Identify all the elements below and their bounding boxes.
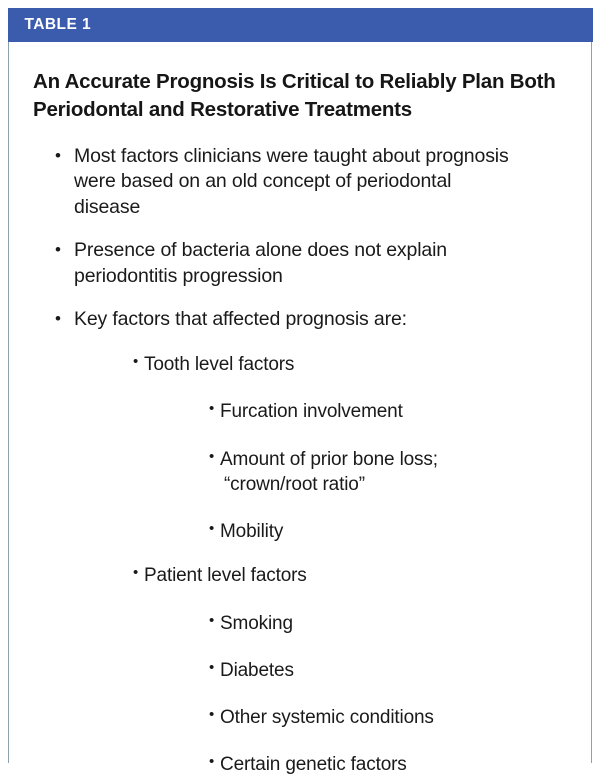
list-item-label: Presence of bacteria alone does not expl… <box>74 238 514 290</box>
bullet-icon: • <box>55 144 74 222</box>
bullet-icon: • <box>209 705 220 730</box>
bullet-icon: • <box>209 519 220 544</box>
table-title: An Accurate Prognosis Is Critical to Rel… <box>33 68 563 125</box>
table-body: An Accurate Prognosis Is Critical to Rel… <box>9 68 591 778</box>
list-item: •Certain genetic factors <box>33 752 577 777</box>
list-item-label: Certain genetic factors <box>220 752 577 777</box>
bullet-icon: • <box>209 447 220 498</box>
list-item: •Diabetes <box>33 658 577 683</box>
list-item-label: Most factors clinicians were taught abou… <box>74 144 514 222</box>
bullet-icon: • <box>133 352 144 377</box>
bullet-icon: • <box>55 238 74 290</box>
list-item-label: Smoking <box>220 611 577 636</box>
list-item-label: Key factors that affected prognosis are: <box>74 307 514 333</box>
list-item: •Key factors that affected prognosis are… <box>33 307 577 333</box>
list-item: •Smoking <box>33 611 577 636</box>
bullet-icon: • <box>209 399 220 424</box>
list-item-continuation: “crown/root ratio” <box>220 472 577 497</box>
list-item: •Patient level factors <box>33 563 577 588</box>
list-item-label: Diabetes <box>220 658 577 683</box>
list-item-label: Patient level factors <box>144 563 577 588</box>
table-card: TABLE 1 An Accurate Prognosis Is Critica… <box>8 8 592 763</box>
list-item-label: Mobility <box>220 519 577 544</box>
bullet-icon: • <box>55 307 74 333</box>
list-item: •Mobility <box>33 519 577 544</box>
bullet-icon: • <box>209 611 220 636</box>
list-item: •Furcation involvement <box>33 399 577 424</box>
bullet-icon: • <box>209 752 220 777</box>
bullet-icon: • <box>133 563 144 588</box>
list-item: •Other systemic conditions <box>33 705 577 730</box>
table-header-bar: TABLE 1 <box>8 8 593 42</box>
bullet-icon: • <box>209 658 220 683</box>
list-item: •Most factors clinicians were taught abo… <box>33 144 577 222</box>
bullet-list: •Most factors clinicians were taught abo… <box>33 144 577 778</box>
list-item: •Tooth level factors <box>33 352 577 377</box>
list-item-label: Furcation involvement <box>220 399 577 424</box>
list-item-label: Other systemic conditions <box>220 705 577 730</box>
list-item-label: Amount of prior bone loss;“crown/root ra… <box>220 447 577 498</box>
list-item-label: Tooth level factors <box>144 352 577 377</box>
table-number-label: TABLE 1 <box>25 16 92 34</box>
list-item: •Presence of bacteria alone does not exp… <box>33 238 577 290</box>
list-item: •Amount of prior bone loss;“crown/root r… <box>33 447 577 498</box>
